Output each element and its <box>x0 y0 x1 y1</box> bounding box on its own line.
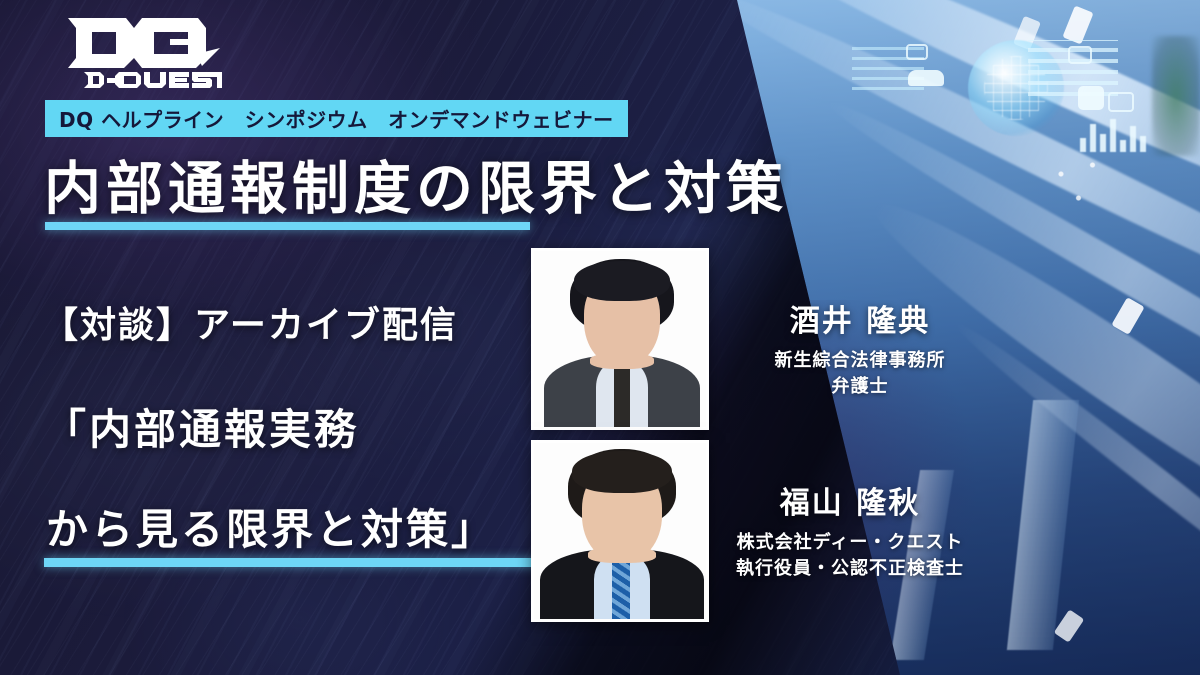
speaker-role-1: 弁護士 <box>710 374 1010 400</box>
session-title-line-2: から見る限界と対策」 <box>46 496 496 557</box>
hud-chip-icon <box>1108 92 1134 112</box>
hud-network-icon <box>1040 150 1110 210</box>
speaker-photo-1 <box>531 248 709 430</box>
title-underline-rule <box>45 222 530 230</box>
hud-bar-chart-icon <box>1080 118 1168 152</box>
speaker-role-2: 執行役員・公認不正検査士 <box>700 556 1000 582</box>
speaker-name-1: 酒井 隆典 <box>710 296 1010 340</box>
speaker-name-2: 福山 隆秋 <box>700 478 1000 522</box>
speaker-info-2: 福山 隆秋 株式会社ディー・クエスト 執行役員・公認不正検査士 <box>700 478 1000 582</box>
session-title-underline-rule <box>44 558 545 567</box>
speaker-org-1: 新生綜合法律事務所 <box>710 348 1010 374</box>
dq-logo-icon[interactable] <box>62 14 222 88</box>
page-title: 内部通報制度の限界と対策 <box>44 143 788 225</box>
webinar-title-slide: DQ ヘルプライン シンポジウム オンデマンドウェビナー 内部通報制度の限界と対… <box>0 0 1200 675</box>
speaker-info-1: 酒井 隆典 新生綜合法律事務所 弁護士 <box>710 296 1010 400</box>
speaker-org-2: 株式会社ディー・クエスト <box>700 530 1000 556</box>
hud-chip-icon <box>906 44 928 60</box>
session-title-line-1: 「内部通報実務 <box>44 396 359 457</box>
speaker-photo-2 <box>531 440 709 622</box>
hud-bus-icon <box>1078 86 1104 110</box>
event-category-banner: DQ ヘルプライン シンポジウム オンデマンドウェビナー <box>45 100 628 137</box>
format-label: 【対談】アーカイブ配信 <box>42 296 458 348</box>
hud-chip-icon <box>1068 46 1092 64</box>
hud-car-icon <box>908 70 944 86</box>
